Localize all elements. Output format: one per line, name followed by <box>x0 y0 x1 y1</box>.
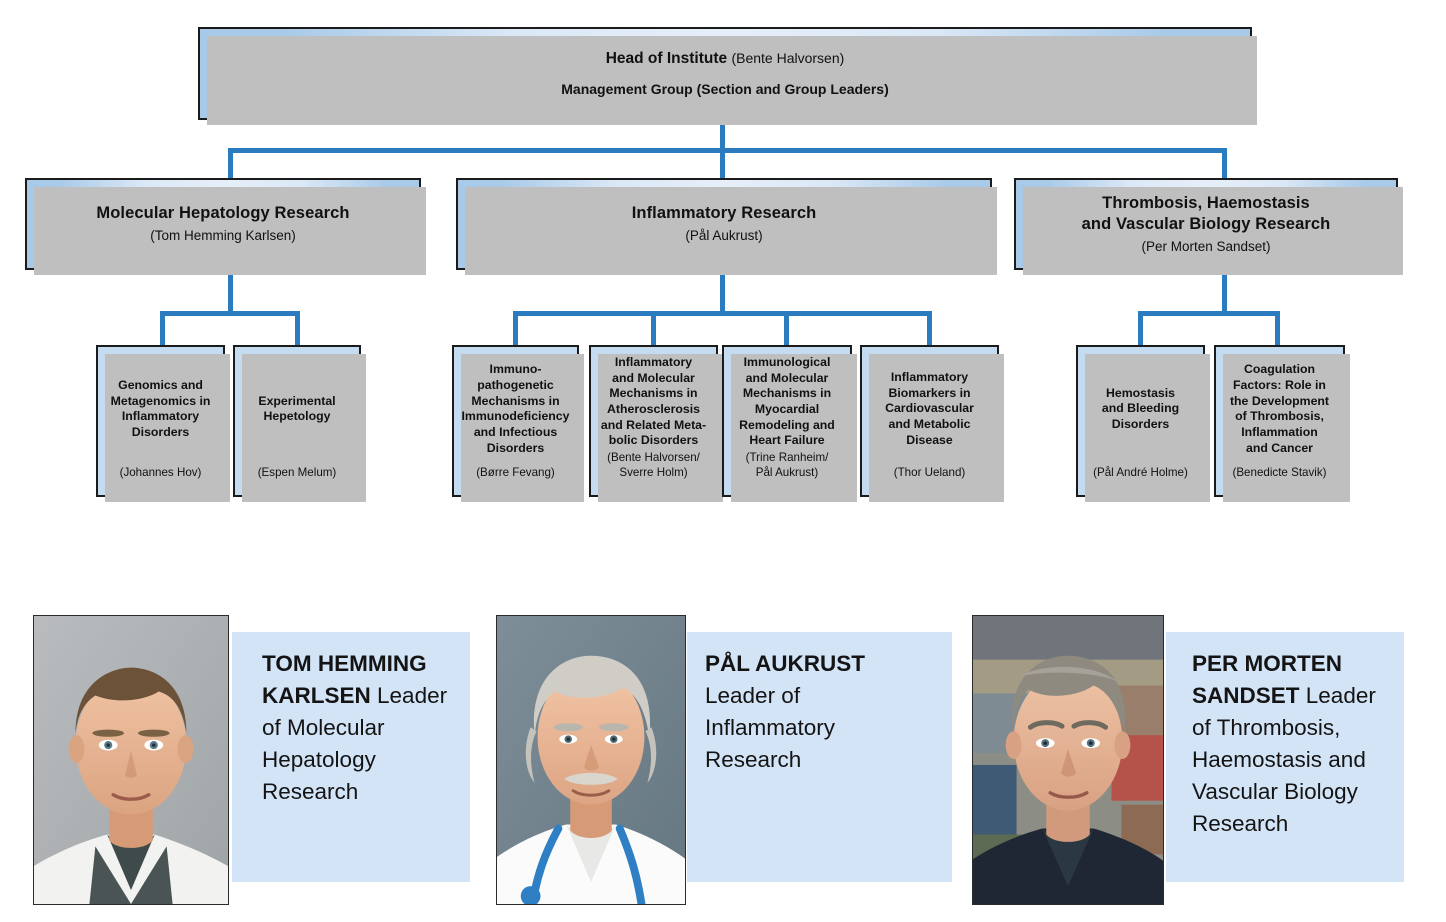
group-body-immunopathogenetic: Immuno- pathogenetic Mechanisms in Immun… <box>459 353 572 466</box>
connector-bus-molecular-hepatology <box>160 311 300 316</box>
connector-drop-experimental-hepetology <box>295 311 300 347</box>
group-leader-coagulation-factors: (Benedicte Stavik) <box>1232 466 1326 489</box>
group-body-biomarkers: Inflammatory Biomarkers in Cardiovascula… <box>867 353 992 466</box>
connector-drop-coagulation-factors <box>1275 311 1280 347</box>
group-box-atherosclerosis[interactable]: Inflammatory and Molecular Mechanisms in… <box>589 345 718 497</box>
connector-drop-biomarkers <box>927 311 932 347</box>
head-of-institute-leader: (Bente Halvorsen) <box>731 50 844 66</box>
group-body-atherosclerosis: Inflammatory and Molecular Mechanisms in… <box>596 353 711 451</box>
group-title-coagulation-factors: Coagulation Factors: Role in the Develop… <box>1230 362 1329 456</box>
profile-text-tom-hemming-karlsen: TOM HEMMING KARLSEN Leader of Molecular … <box>262 648 462 808</box>
group-body-coagulation-factors: Coagulation Factors: Role in the Develop… <box>1221 353 1338 466</box>
group-title-hemostasis: Hemostasis and Bleeding Disorders <box>1102 386 1179 433</box>
profile-name-pal-aukrust: PÅL AUKRUST <box>705 651 865 676</box>
connector-drop-immunopathogenetic <box>513 311 518 347</box>
connector-drop-hemostasis <box>1138 311 1143 347</box>
group-leader-myocardial: (Trine Ranheim/ Pål Aukrust) <box>746 451 829 489</box>
group-title-myocardial: Immunological and Molecular Mechanisms i… <box>739 355 835 449</box>
connector-drop-myocardial <box>784 311 789 347</box>
section-box-thrombosis[interactable]: Thrombosis, Haemostasis and Vascular Bio… <box>1014 178 1398 270</box>
group-body-myocardial: Immunological and Molecular Mechanisms i… <box>729 353 845 451</box>
group-title-genomics-metagenomics: Genomics and Metagenomics in Inflammator… <box>111 378 211 441</box>
group-leader-experimental-hepetology: (Espen Melum) <box>258 466 337 489</box>
group-body-genomics-metagenomics: Genomics and Metagenomics in Inflammator… <box>103 353 218 466</box>
group-body-experimental-hepetology: Experimental Hepetology <box>240 353 354 466</box>
section-title-thrombosis: Thrombosis, Haemostasis and Vascular Bio… <box>1082 193 1331 235</box>
section-box-molecular-hepatology[interactable]: Molecular Hepatology Research (Tom Hemmi… <box>25 178 421 270</box>
section-leader-molecular-hepatology: (Tom Hemming Karlsen) <box>150 227 296 245</box>
group-box-biomarkers[interactable]: Inflammatory Biomarkers in Cardiovascula… <box>860 345 999 497</box>
head-of-institute-box[interactable]: Head of Institute (Bente Halvorsen) Mana… <box>198 27 1252 120</box>
connector-trunk-thrombosis <box>1222 270 1227 314</box>
group-leader-genomics-metagenomics: (Johannes Hov) <box>120 466 202 489</box>
group-box-hemostasis[interactable]: Hemostasis and Bleeding Disorders (Pål A… <box>1076 345 1205 497</box>
head-of-institute-title-line: Head of Institute (Bente Halvorsen) <box>606 50 845 68</box>
connector-bus-inflammatory <box>513 311 932 316</box>
connector-drop-thrombosis <box>1222 148 1227 180</box>
group-leader-biomarkers: (Thor Ueland) <box>894 466 966 489</box>
group-leader-hemostasis: (Pål André Holme) <box>1093 466 1188 489</box>
connector-bus-thrombosis <box>1138 311 1280 316</box>
avatar-tom-hemming-karlsen <box>33 615 229 905</box>
avatar-pal-aukrust <box>496 615 686 905</box>
section-title-inflammatory: Inflammatory Research <box>632 203 817 224</box>
group-leader-atherosclerosis: (Bente Halvorsen/ Sverre Holm) <box>607 451 700 489</box>
group-leader-immunopathogenetic: (Børre Fevang) <box>476 466 555 489</box>
group-title-experimental-hepetology: Experimental Hepetology <box>258 394 335 425</box>
connector-drop-inflammatory <box>720 148 725 180</box>
connector-drop-atherosclerosis <box>651 311 656 347</box>
section-leader-thrombosis: (Per Morten Sandset) <box>1141 238 1270 256</box>
management-group-label: Management Group (Section and Group Lead… <box>561 81 888 97</box>
section-leader-inflammatory: (Pål Aukrust) <box>685 227 762 245</box>
section-box-inflammatory[interactable]: Inflammatory Research (Pål Aukrust) <box>456 178 992 270</box>
org-chart: Head of Institute (Bente Halvorsen) Mana… <box>0 0 1446 922</box>
group-title-atherosclerosis: Inflammatory and Molecular Mechanisms in… <box>601 355 706 449</box>
group-box-genomics-metagenomics[interactable]: Genomics and Metagenomics in Inflammator… <box>96 345 225 497</box>
group-body-hemostasis: Hemostasis and Bleeding Disorders <box>1083 353 1198 466</box>
connector-trunk-inflammatory <box>720 270 725 314</box>
connector-trunk-molecular-hepatology <box>228 270 233 314</box>
connector-drop-molecular-hepatology <box>228 148 233 180</box>
head-of-institute-title: Head of Institute <box>606 50 727 67</box>
group-box-coagulation-factors[interactable]: Coagulation Factors: Role in the Develop… <box>1214 345 1345 497</box>
profile-text-per-morten-sandset: PER MORTEN SANDSET Leader of Thrombosis,… <box>1192 648 1397 840</box>
profile-text-pal-aukrust: PÅL AUKRUST Leader of Inflammatory Resea… <box>705 648 920 776</box>
connector-drop-genomics-metagenomics <box>160 311 165 347</box>
group-title-immunopathogenetic: Immuno- pathogenetic Mechanisms in Immun… <box>462 362 570 456</box>
group-box-immunopathogenetic[interactable]: Immuno- pathogenetic Mechanisms in Immun… <box>452 345 579 497</box>
group-title-biomarkers: Inflammatory Biomarkers in Cardiovascula… <box>885 370 974 449</box>
avatar-per-morten-sandset <box>972 615 1164 905</box>
group-box-experimental-hepetology[interactable]: Experimental Hepetology (Espen Melum) <box>233 345 361 497</box>
profile-role-pal-aukrust: Leader of Inflammatory Research <box>705 683 835 772</box>
section-title-molecular-hepatology: Molecular Hepatology Research <box>96 203 349 224</box>
connector-level1-bus <box>228 148 1227 153</box>
group-box-myocardial[interactable]: Immunological and Molecular Mechanisms i… <box>722 345 852 497</box>
